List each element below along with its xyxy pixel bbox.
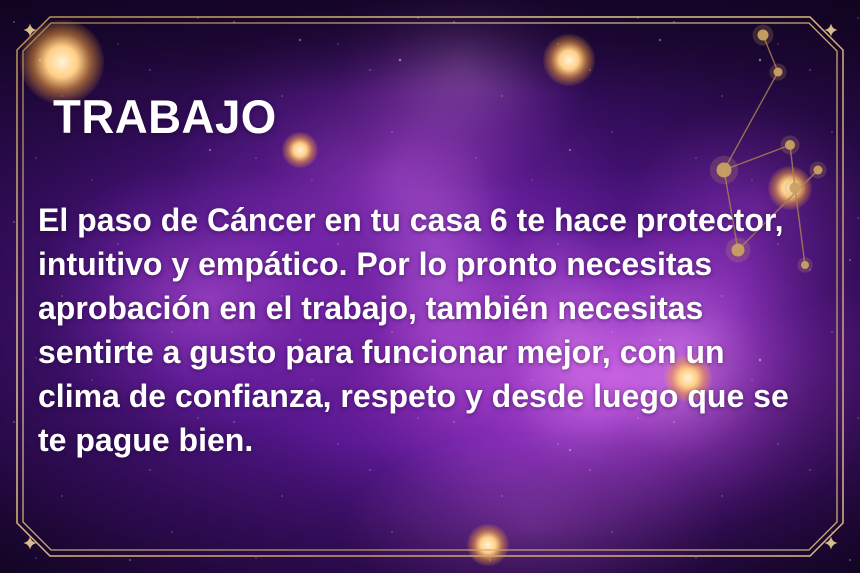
body-line-2: intuitivo y empático. Por lo pronto nece… [38,242,816,286]
body-line-3: aprobación en el trabajo, también necesi… [38,286,816,330]
body-line-1: El paso de Cáncer en tu casa 6 te hace p… [38,198,816,242]
body-line-4: sentirte a gusto para funcionar mejor, c… [38,330,816,374]
body-line-6: te pague bien. [38,418,816,462]
horoscope-card: TRABAJO El paso de Cáncer en tu casa 6 t… [0,0,860,573]
body-line-5: clima de confianza, respeto y desde lueg… [38,374,816,418]
horoscope-body-text: El paso de Cáncer en tu casa 6 te hace p… [38,198,828,462]
card-content: TRABAJO El paso de Cáncer en tu casa 6 t… [0,0,860,573]
page-title: TRABAJO [53,93,277,140]
